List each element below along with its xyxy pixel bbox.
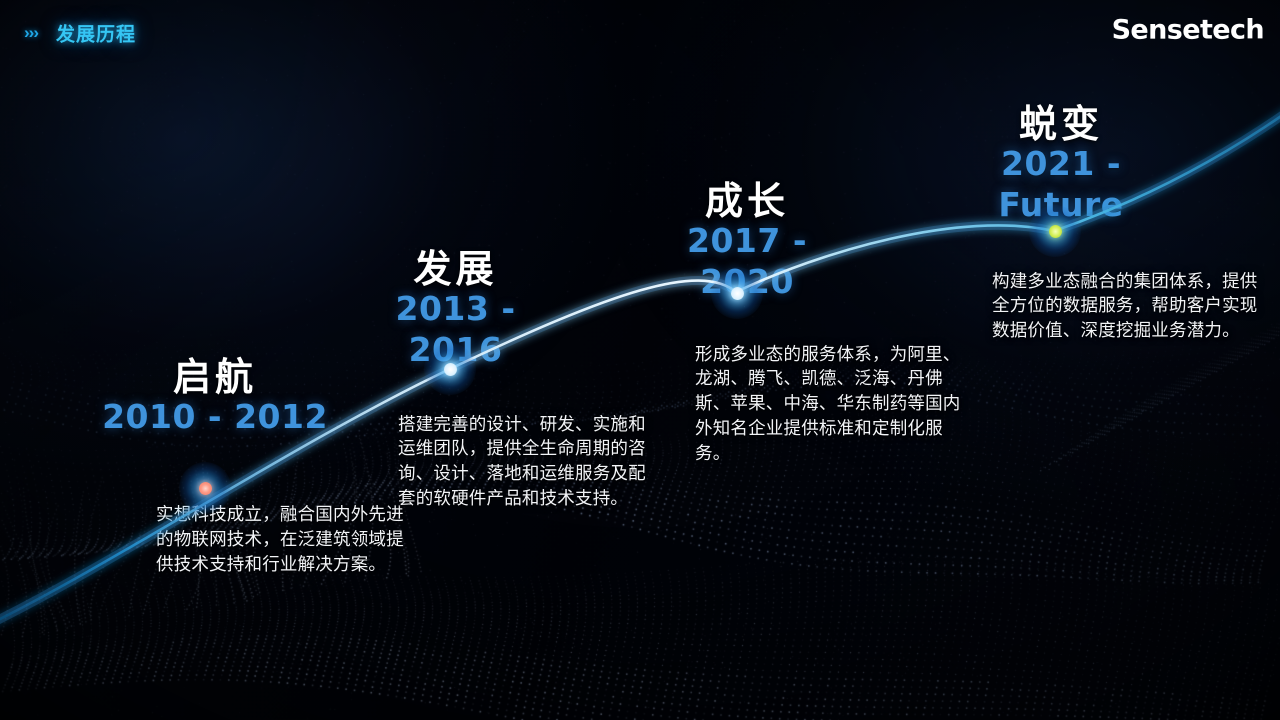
node-core-icon: [731, 287, 744, 300]
node-core-icon: [199, 482, 212, 495]
milestone-3-title: 成长: [638, 182, 856, 220]
slide-header: ››› 发展历程 Sensetech: [0, 0, 1280, 66]
page-title: 发展历程: [56, 20, 136, 47]
timeline-node-4[interactable]: [1029, 205, 1081, 257]
timeline-node-2[interactable]: [424, 343, 476, 395]
milestone-1-description: 实想科技成立，融合国内外先进的物联网技术，在泛建筑领域提供技术支持和行业解决方案…: [156, 503, 418, 578]
brand-logo: Sensetech: [1112, 15, 1264, 46]
node-core-icon: [444, 363, 457, 376]
node-core-icon: [1049, 225, 1062, 238]
milestone-1-title: 启航: [100, 358, 330, 396]
milestone-2-title: 发展: [348, 250, 563, 288]
milestone-2-description: 搭建完善的设计、研发、实施和运维团队，提供全生命周期的咨询、设计、落地和运维服务…: [398, 413, 650, 512]
timeline-node-3[interactable]: [711, 267, 763, 319]
double-chevron-right-icon: ›››: [24, 23, 38, 43]
milestone-1-years: 2010 - 2012: [100, 396, 330, 437]
milestone-4-title: 蜕变: [945, 105, 1177, 143]
milestone-4-description: 构建多业态融合的集团体系，提供全方位的数据服务，帮助客户实现数据价值、深度挖掘业…: [992, 270, 1260, 345]
milestone-3: 成长 2017 - 2020 形成多业态的服务体系，为阿里、龙湖、腾飞、凯德、泛…: [638, 182, 856, 467]
milestone-3-description: 形成多业态的服务体系，为阿里、龙湖、腾飞、凯德、泛海、丹佛斯、苹果、中海、华东制…: [695, 343, 967, 467]
timeline-node-1[interactable]: [179, 462, 231, 514]
